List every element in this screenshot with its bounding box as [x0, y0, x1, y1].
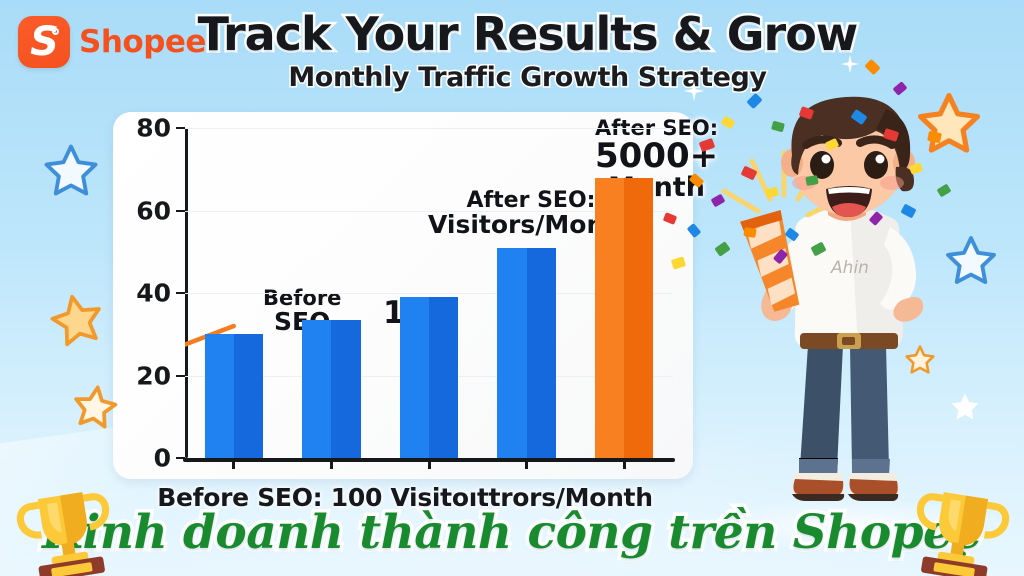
- y-axis-label: 20: [136, 361, 171, 390]
- y-axis-label: 40: [136, 279, 171, 308]
- chart-bar[interactable]: [205, 334, 264, 458]
- poster-canvas: S Shopee Track Your Results & Grow Month…: [0, 0, 1024, 576]
- page-title: Track Your Results & Grow: [195, 6, 860, 62]
- y-axis-label: 0: [154, 444, 171, 473]
- bar-face-light: [595, 178, 624, 459]
- y-axis-label: 60: [136, 196, 171, 225]
- y-axis-tick: [176, 457, 185, 459]
- bar-face-dark: [331, 320, 360, 458]
- y-axis-tick: [176, 127, 185, 129]
- chart-bar[interactable]: [497, 248, 556, 458]
- x-axis-tick: [525, 458, 528, 469]
- blue-star-icon: [942, 232, 1000, 290]
- y-axis-tick: [176, 292, 185, 294]
- sparkle-icon: [683, 80, 705, 102]
- bar-face-light: [497, 248, 526, 458]
- y-axis-tick: [176, 210, 185, 212]
- page-subtitle: Monthly Traffic Growth Strategy: [195, 61, 860, 95]
- chart-bar[interactable]: [400, 297, 459, 458]
- bar-face-dark: [624, 178, 653, 459]
- x-axis-tick: [330, 458, 333, 469]
- bar-face-light: [205, 334, 234, 458]
- bar-face-light: [302, 320, 331, 458]
- chart-plot-area: Before SEO 100 After SEO: Visitors/Month…: [185, 128, 673, 458]
- headline-block: Track Your Results & Grow Monthly Traffi…: [195, 6, 860, 95]
- bar-face-dark: [429, 297, 458, 458]
- x-axis-tick: [428, 458, 431, 469]
- shopee-wordmark: Shopee: [79, 24, 206, 60]
- y-axis-tick: [176, 375, 185, 377]
- confetti-piece: [864, 59, 880, 75]
- chart-bar[interactable]: [595, 178, 654, 459]
- bar-face-light: [400, 297, 429, 458]
- shopee-logo-icon: S: [18, 16, 70, 68]
- trophy-icon: [5, 479, 126, 576]
- shopee-logo: S Shopee: [18, 16, 206, 68]
- orange-filled-star-icon: [41, 284, 112, 355]
- sparkle-icon: [840, 54, 860, 74]
- grid-line: [185, 128, 673, 129]
- small-orange-star-icon: [903, 343, 937, 377]
- blue-star-icon: [40, 140, 102, 202]
- chart-bar[interactable]: [302, 320, 361, 458]
- trophy-icon: [899, 479, 1020, 576]
- shopee-logo-dot-icon: [52, 28, 59, 35]
- white-star-icon: [948, 390, 982, 424]
- orange-outline-star-icon: [67, 379, 123, 435]
- confetti-piece: [893, 81, 908, 96]
- x-axis-tick: [623, 458, 626, 469]
- shopee-logo-letter: S: [18, 19, 70, 65]
- orange-star-icon: [913, 88, 985, 160]
- x-axis-tick: [232, 458, 235, 469]
- confetti-piece: [743, 227, 756, 238]
- y-axis-label: 80: [136, 114, 171, 143]
- bar-face-dark: [234, 334, 263, 458]
- svg-text:Ahin: Ahin: [830, 258, 869, 278]
- bar-face-dark: [527, 248, 556, 458]
- chart-card: Before SEO 100 After SEO: Visitors/Month…: [113, 112, 693, 479]
